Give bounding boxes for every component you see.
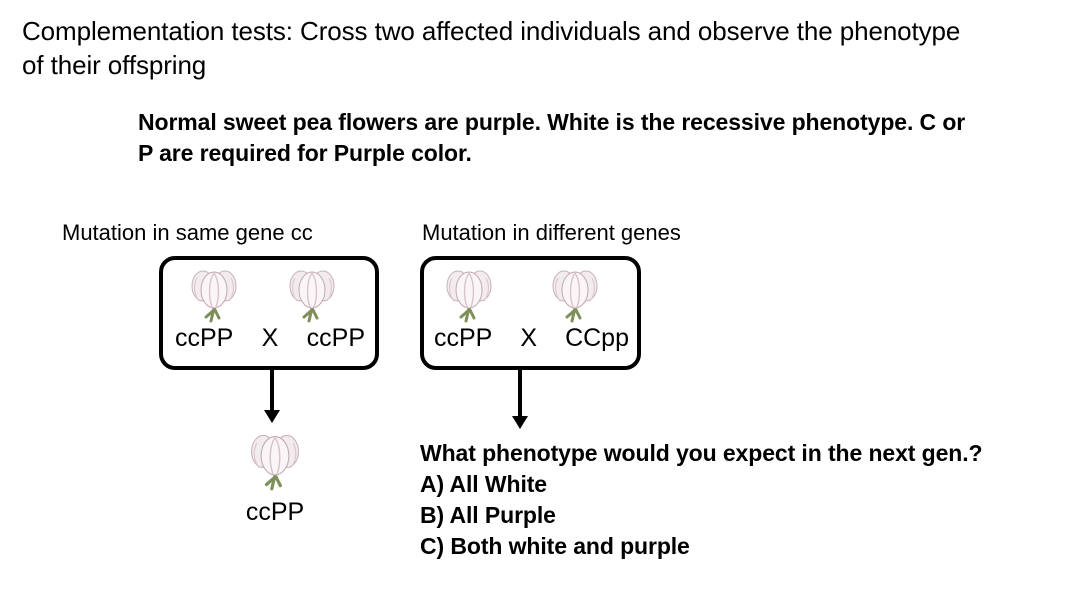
cross-box-inner: ccPP X CCpp bbox=[424, 260, 637, 366]
cross-box-same-gene: ccPP X ccPP bbox=[159, 256, 379, 370]
down-arrow-icon bbox=[260, 368, 284, 424]
arrow-shaft bbox=[518, 368, 522, 418]
cross-genotype-row: ccPP X CCpp bbox=[424, 322, 637, 354]
white-sweet-pea-flower-icon bbox=[285, 264, 339, 324]
cross-box-inner: ccPP X ccPP bbox=[163, 260, 375, 366]
answer-option-c[interactable]: C) Both white and purple bbox=[420, 531, 1086, 562]
slide-subtitle: Normal sweet pea flowers are purple. Whi… bbox=[138, 107, 968, 169]
cross-operator: X bbox=[492, 322, 565, 354]
answer-option-b[interactable]: B) All Purple bbox=[420, 500, 1086, 531]
arrow-head bbox=[264, 410, 280, 423]
arrow-head bbox=[512, 416, 528, 429]
offspring-genotype-label: ccPP bbox=[200, 497, 350, 527]
white-sweet-pea-flower-icon bbox=[187, 264, 241, 324]
white-sweet-pea-flower-icon bbox=[442, 264, 496, 324]
answer-option-a[interactable]: A) All White bbox=[420, 469, 1086, 500]
question-block: What phenotype would you expect in the n… bbox=[420, 438, 1086, 562]
white-sweet-pea-flower-icon bbox=[548, 264, 602, 324]
slide-canvas: Complementation tests: Cross two affecte… bbox=[0, 0, 1086, 596]
parent-genotype-left: ccPP bbox=[175, 322, 233, 354]
cross-label-different-genes: Mutation in different genes bbox=[422, 219, 681, 247]
slide-title: Complementation tests: Cross two affecte… bbox=[22, 14, 982, 82]
cross-label-same-gene: Mutation in same gene cc bbox=[62, 219, 313, 247]
white-sweet-pea-flower-icon bbox=[246, 428, 304, 492]
arrow-shaft bbox=[270, 368, 274, 412]
parent-genotype-right: ccPP bbox=[307, 322, 365, 354]
parent-genotype-left: ccPP bbox=[434, 322, 492, 354]
cross-operator: X bbox=[233, 322, 306, 354]
question-prompt: What phenotype would you expect in the n… bbox=[420, 438, 1086, 469]
cross-genotype-row: ccPP X ccPP bbox=[163, 322, 375, 354]
parent-genotype-right: CCpp bbox=[565, 322, 629, 354]
cross-box-different-genes: ccPP X CCpp bbox=[420, 256, 641, 370]
down-arrow-icon bbox=[508, 368, 532, 432]
